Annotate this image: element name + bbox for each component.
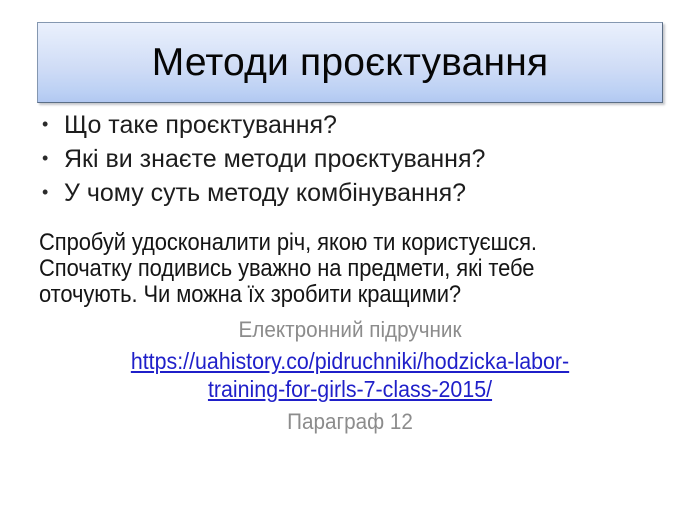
slide-title-banner: Методи проєктування [37,22,663,103]
page-title: Методи проєктування [152,43,549,82]
paragraph-line: оточують. Чи можна їх зробити кращими? [39,282,597,308]
paragraph-line: Спочатку подивись уважно на предмети, як… [39,256,597,282]
bullet-dot-icon: • [38,149,64,167]
slide-canvas: Методи проєктування • Що таке проєктуван… [0,0,700,525]
list-item-label: Що таке проєктування? [64,113,337,138]
source-attribution-block: Електронний підручник https://uahistory.… [0,316,700,436]
bullet-dot-icon: • [38,115,64,133]
instruction-paragraph: Спробуй удосконалити річ, якою ти корист… [39,230,649,308]
source-url-link[interactable]: https://uahistory.co/pidruchniki/hodzick… [0,347,700,403]
list-item-label: У чому суть методу комбінування? [64,181,466,206]
paragraph-line: Спробуй удосконалити річ, якою ти корист… [39,230,597,256]
source-caption: Електронний підручник [21,316,679,344]
bullet-dot-icon: • [38,183,64,201]
source-url-line[interactable]: https://uahistory.co/pidruchniki/hodzick… [25,347,676,375]
list-item: • У чому суть методу комбінування? [38,181,663,215]
source-url-line[interactable]: training-for-girls-7-class-2015/ [25,375,676,403]
list-item: • Що таке проєктування? [38,113,663,147]
paragraph-reference: Параграф 12 [21,408,679,436]
list-item-label: Які ви знаєте методи проєктування? [64,147,485,172]
list-item: • Які ви знаєте методи проєктування? [38,147,663,181]
question-bullet-list: • Що таке проєктування? • Які ви знаєте … [38,113,663,215]
